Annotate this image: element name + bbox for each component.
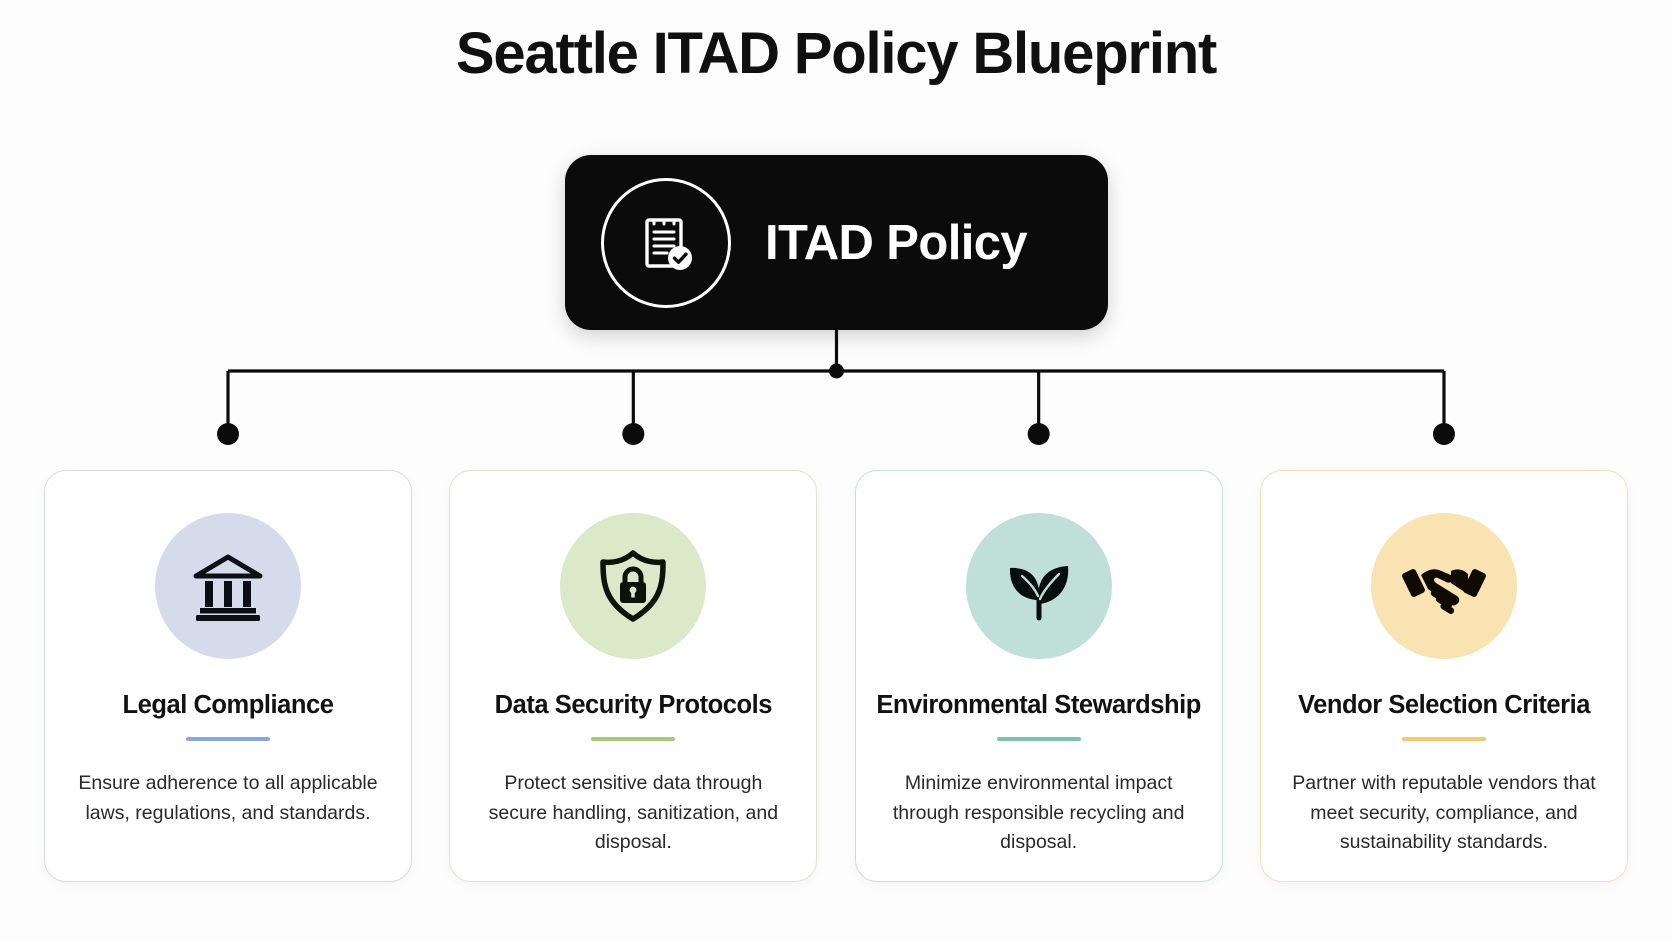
leaf-plant-icon: [966, 513, 1112, 659]
card-title: Data Security Protocols: [495, 691, 772, 720]
category-card-row: Legal Compliance Ensure adherence to all…: [0, 470, 1672, 890]
card-accent-divider: [186, 737, 270, 741]
card-title: Vendor Selection Criteria: [1298, 691, 1590, 720]
card-data-security-protocols[interactable]: Data Security Protocols Protect sensitiv…: [449, 470, 817, 882]
card-description: Ensure adherence to all applicable laws,…: [73, 769, 383, 828]
handshake-icon: [1371, 513, 1517, 659]
shield-lock-icon: [560, 513, 706, 659]
diagram-canvas: Seattle ITAD Policy Blueprint ITAD Polic…: [0, 0, 1672, 941]
card-description: Protect sensitive data through secure ha…: [478, 769, 788, 858]
card-description: Minimize environmental impact through re…: [884, 769, 1194, 858]
bank-institution-icon: [155, 513, 301, 659]
page-title: Seattle ITAD Policy Blueprint: [0, 22, 1672, 86]
card-title: Environmental Stewardship: [876, 691, 1201, 720]
card-description: Partner with reputable vendors that meet…: [1289, 769, 1599, 858]
card-accent-divider: [997, 737, 1081, 741]
card-accent-divider: [591, 737, 675, 741]
card-title: Legal Compliance: [122, 691, 333, 720]
card-accent-divider: [1402, 737, 1486, 741]
card-legal-compliance[interactable]: Legal Compliance Ensure adherence to all…: [44, 470, 412, 882]
document-check-icon: [601, 178, 731, 308]
card-environmental-stewardship[interactable]: Environmental Stewardship Minimize envir…: [855, 470, 1223, 882]
card-vendor-selection-criteria[interactable]: Vendor Selection Criteria Partner with r…: [1260, 470, 1628, 882]
root-node-label: ITAD Policy: [765, 215, 1027, 271]
root-node-itad-policy[interactable]: ITAD Policy: [565, 155, 1108, 330]
